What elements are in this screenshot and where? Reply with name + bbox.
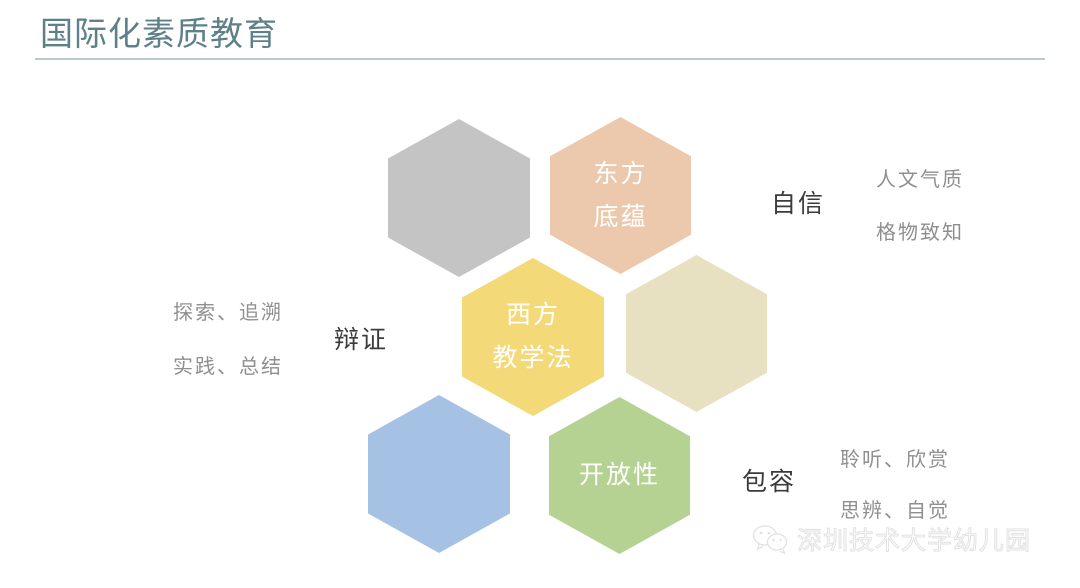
hexagon-peach-label-line2: 底蕴 [593, 196, 647, 239]
hexagon-eastern-heritage[interactable]: 东方 底蕴 [550, 117, 691, 274]
hexagon-peach-label-line1: 东方 [593, 153, 647, 196]
annotation-self-confidence-title: 自信 [771, 184, 825, 220]
hexagon-yellow-label-line1: 西方 [506, 294, 560, 337]
hexagon-openness[interactable]: 开放性 [549, 397, 690, 554]
hexagon-western-pedagogy[interactable]: 西方 教学法 [462, 258, 604, 416]
annotation-dialectics-line1: 探索、追溯 [173, 296, 283, 325]
hexagon-blue[interactable] [368, 395, 510, 553]
annotation-self-confidence-line2: 格物致知 [876, 216, 964, 245]
hexagon-gray[interactable] [388, 119, 530, 277]
hexagon-beige[interactable] [626, 255, 767, 412]
slide-canvas: 国际化素质教育 东方 底蕴 西方 教学法 开放性 自信 人文气质 格物致知 辩证… [0, 0, 1080, 588]
annotation-inclusiveness-line1: 聆听、欣赏 [840, 443, 950, 472]
annotation-self-confidence-line1: 人文气质 [876, 163, 964, 192]
annotation-dialectics-line2: 实践、总结 [173, 350, 283, 379]
wechat-icon [752, 524, 790, 554]
annotation-inclusiveness-line2: 思辨、自觉 [840, 494, 950, 523]
annotation-dialectics-title: 辩证 [334, 320, 388, 356]
watermark: 深圳技术大学幼儿园 [752, 521, 1031, 557]
hexagon-green-label: 开放性 [579, 454, 660, 497]
watermark-text: 深圳技术大学幼儿园 [797, 521, 1031, 557]
hexagon-yellow-label-line2: 教学法 [492, 337, 573, 380]
annotation-inclusiveness-title: 包容 [742, 462, 796, 498]
